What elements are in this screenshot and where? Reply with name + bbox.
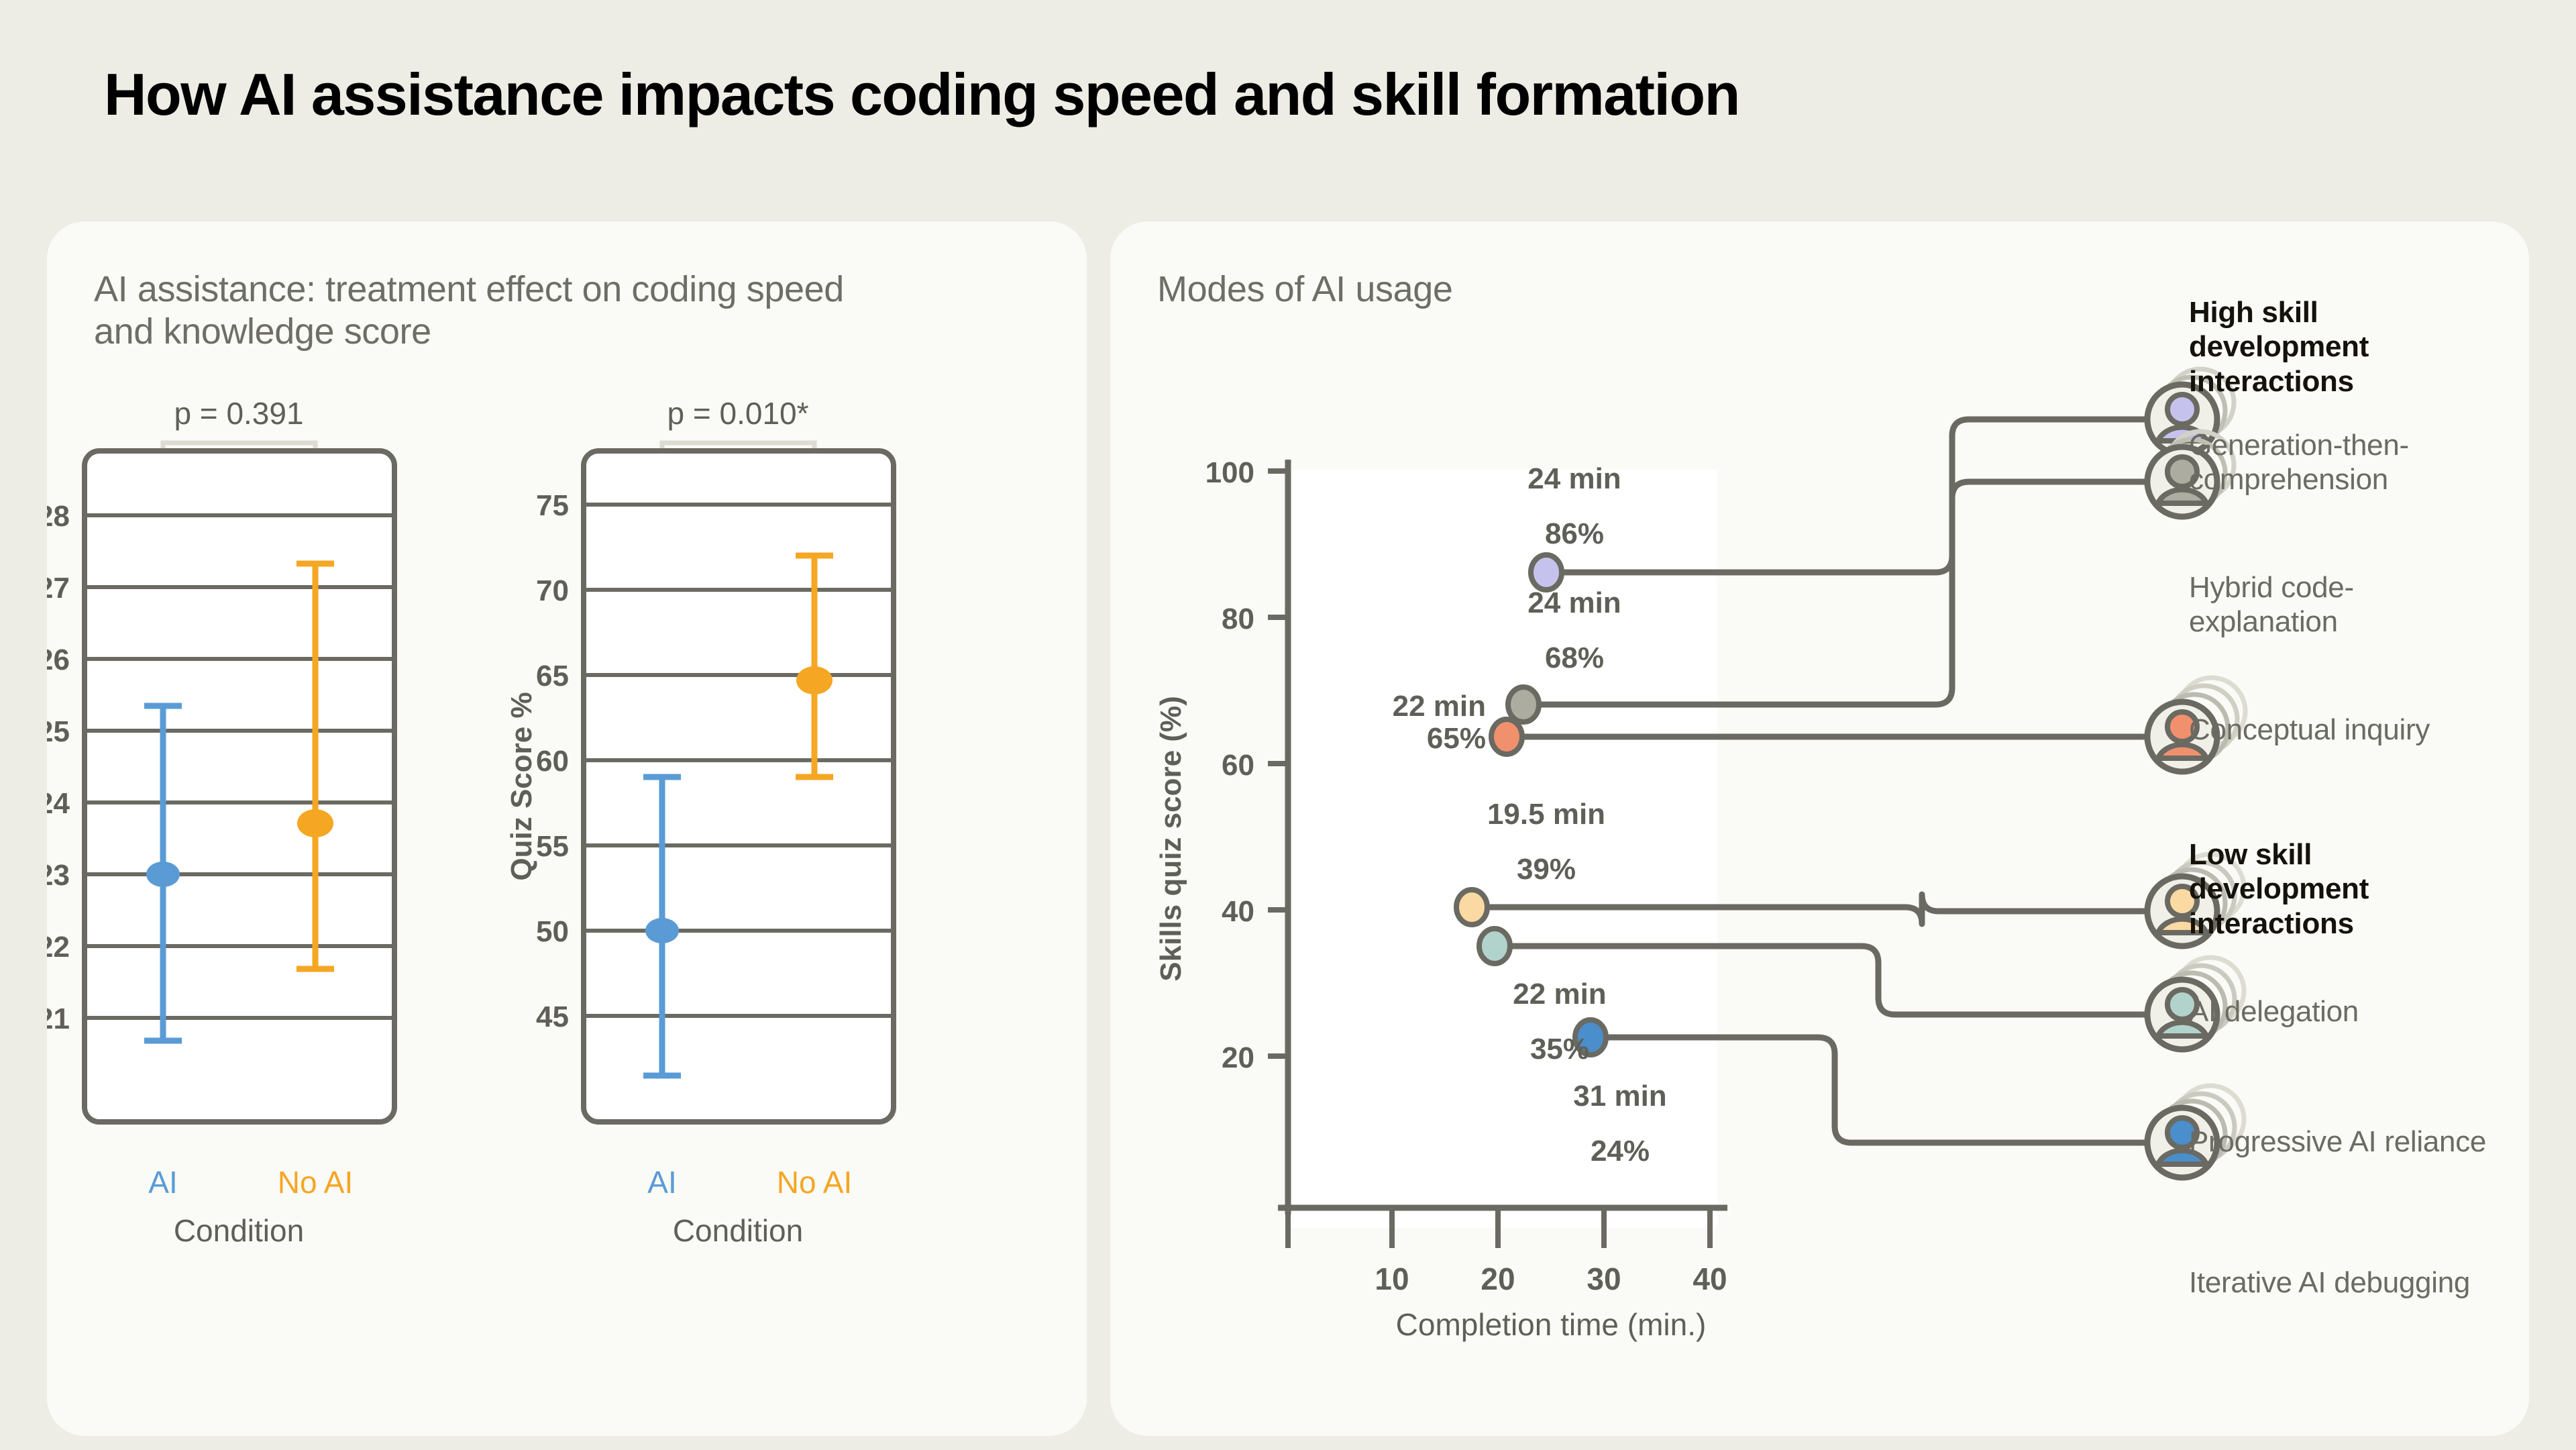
legend-label-progressive-ai-reliance[interactable]: Progressive AI reliance [2189, 1125, 2498, 1159]
point-ai-quiz [645, 918, 679, 943]
scatter-point-ai-delegation[interactable] [1456, 890, 1487, 925]
scatter-xaxis-label: Completion time (min.) [1396, 1307, 1707, 1342]
ytick-60: 60 [536, 745, 569, 778]
ytick-26: 26 [47, 643, 70, 676]
ytick-23: 23 [47, 859, 70, 892]
modes-of-ai-usage-chart: 100 80 60 40 20 10 20 30 40 Completion t… [1110, 221, 2529, 1436]
scatter-point-conceptual-inquiry[interactable] [1491, 719, 1522, 754]
page-title: How AI assistance impacts coding speed a… [104, 60, 1739, 129]
annot-time-progressive-ai-reliance: 22 min [1513, 978, 1606, 1011]
legend-label-hybrid-code-explanation[interactable]: Hybrid code-explanation [2189, 570, 2498, 639]
legend-label-generation-then-comprehension[interactable]: Generation-then-comprehension [2189, 428, 2498, 497]
legend-label-iterative-ai-debugging[interactable]: Iterative AI debugging [2189, 1265, 2498, 1300]
ytick-75: 75 [536, 489, 569, 522]
scatter-xtick-40: 40 [1693, 1261, 1727, 1296]
scatter-xtick-10: 10 [1375, 1261, 1409, 1296]
xtick-ai-quiz: AI [647, 1165, 676, 1200]
point-ai-task-time [146, 862, 180, 887]
annot-time-generation-then-comprehension: 24 min [1527, 462, 1621, 495]
ytick-27: 27 [47, 572, 70, 605]
annot-time-ai-delegation: 19.5 min [1487, 798, 1605, 831]
annot-time-iterative-ai-debugging: 31 min [1573, 1080, 1666, 1112]
scatter-point-progressive-ai-reliance[interactable] [1479, 929, 1510, 964]
scatter-xtick-30: 30 [1587, 1261, 1621, 1296]
ytick-22: 22 [47, 931, 70, 964]
ytick-24: 24 [47, 787, 70, 820]
ytick-21: 21 [47, 1002, 70, 1035]
annot-score-progressive-ai-reliance: 35% [1530, 1033, 1589, 1066]
scatter-point-hybrid-code-explanation[interactable] [1508, 687, 1539, 722]
xaxis-label-quiz: Condition [673, 1213, 803, 1248]
xtick-noai-task-time: No AI [278, 1165, 354, 1200]
annot-time-hybrid-code-explanation: 24 min [1527, 586, 1621, 619]
yaxis-label-quiz: Quiz Score % [505, 692, 538, 880]
pvalue-label-quiz: p = 0.010* [667, 396, 808, 431]
left-panel-title: AI assistance: treatment effect on codin… [94, 268, 899, 353]
task-time-chart: p = 0.391 28 27 26 25 24 23 22 21 [47, 396, 394, 1248]
annot-time-conceptual-inquiry: 22 min [1393, 690, 1486, 723]
scatter-ytick-100: 100 [1205, 456, 1254, 489]
scatter-ytick-20: 20 [1222, 1041, 1254, 1074]
treatment-effect-charts: p = 0.391 28 27 26 25 24 23 22 21 [47, 349, 1087, 1396]
scatter-ytick-80: 80 [1222, 603, 1254, 635]
plot-area-background [1288, 470, 1717, 1228]
xaxis-label-task-time: Condition [174, 1213, 304, 1248]
point-noai-quiz [796, 666, 833, 694]
ytick-45: 45 [536, 1000, 569, 1033]
annot-score-hybrid-code-explanation: 68% [1545, 641, 1604, 674]
ytick-28: 28 [47, 500, 70, 533]
scatter-yaxis-label: Skills quiz score (%) [1155, 696, 1187, 981]
scatter-ytick-40: 40 [1222, 895, 1254, 928]
scatter-point-generation-then-comprehension[interactable] [1531, 555, 1562, 590]
xtick-ai-task-time: AI [148, 1165, 177, 1200]
ytick-65: 65 [536, 660, 569, 692]
point-noai-task-time [297, 809, 333, 837]
legend-heading-low: Low skill development interactions [2189, 837, 2471, 941]
ytick-25: 25 [47, 715, 70, 748]
scatter-xtick-20: 20 [1481, 1261, 1515, 1296]
legend-label-ai-delegation[interactable]: AI delegation [2189, 994, 2498, 1029]
legend-label-conceptual-inquiry[interactable]: Conceptual inquiry [2189, 713, 2498, 747]
legend-heading-high: High skill development interactions [2189, 295, 2471, 399]
ytick-50: 50 [536, 915, 569, 948]
annot-score-ai-delegation: 39% [1517, 853, 1576, 886]
ytick-55: 55 [536, 830, 569, 863]
scatter-ytick-60: 60 [1222, 749, 1254, 782]
xtick-noai-quiz: No AI [777, 1165, 853, 1200]
quiz-score-chart: p = 0.010* 75 70 65 60 55 50 45 [505, 396, 894, 1248]
pvalue-label-task-time: p = 0.391 [174, 396, 303, 431]
annot-score-generation-then-comprehension: 86% [1545, 517, 1604, 550]
ytick-70: 70 [536, 574, 569, 607]
annot-score-iterative-ai-debugging: 24% [1591, 1135, 1650, 1168]
annot-score-conceptual-inquiry: 65% [1427, 722, 1486, 755]
